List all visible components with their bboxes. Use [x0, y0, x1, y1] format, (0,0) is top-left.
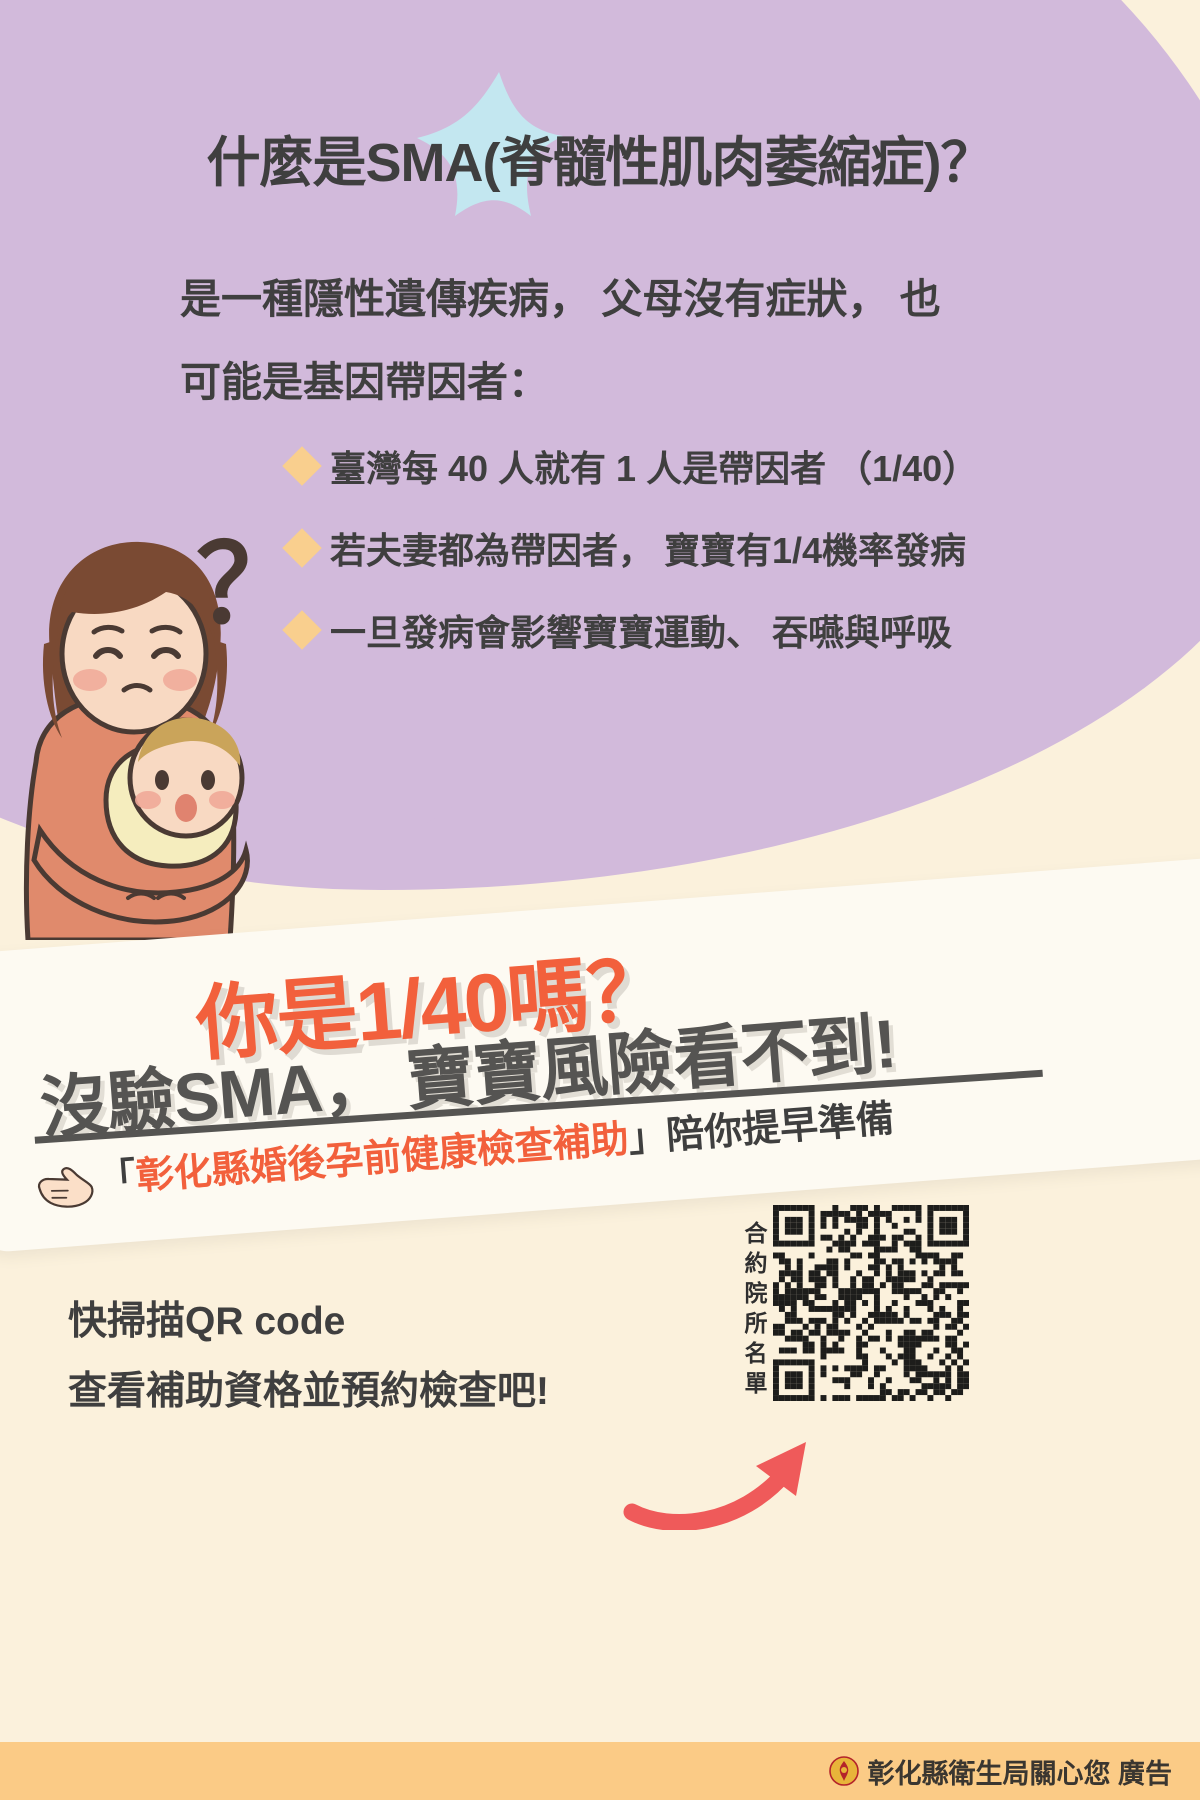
subsidy-prefix: 「: [97, 1156, 138, 1201]
fact-bullet-list: 臺灣每 40 人就有 1 人是帶因者 （1/40） 若夫妻都為帶因者， 寶寶有1…: [288, 425, 978, 671]
list-item: 臺灣每 40 人就有 1 人是帶因者 （1/40）: [288, 425, 978, 507]
health-bureau-logo-icon: [829, 1756, 859, 1786]
page-title: 什麼是SMA(脊髓性肌肉萎縮症)？: [0, 118, 1200, 197]
scan-instruction-line-1: 快掃描QR code: [68, 1290, 345, 1346]
pointing-hand-icon: [31, 1155, 97, 1216]
diamond-bullet-icon: [282, 446, 322, 486]
scan-instruction-line-2: 查看補助資格並預約檢查吧!: [68, 1360, 549, 1416]
bullet-label: 臺灣每 40 人就有 1 人是帶因者 （1/40）: [330, 440, 978, 492]
qr-code-block[interactable]: 合約院所名單: [742, 1205, 969, 1401]
poster-root: 什麼是SMA(脊髓性肌肉萎縮症)？ 是一種隱性遺傳疾病， 父母沒有症狀， 也 可…: [0, 0, 1200, 1800]
intro-line-1: 是一種隱性遺傳疾病， 父母沒有症狀， 也: [180, 265, 941, 325]
footer-text: 彰化縣衛生局關心您 廣告: [867, 1752, 1172, 1791]
qr-label: 合約院所名單: [742, 1221, 765, 1401]
list-item: 若夫妻都為帶因者， 寶寶有1/4機率發病: [288, 507, 978, 589]
footer-bar: 彰化縣衛生局關心您 廣告: [0, 1742, 1200, 1800]
bullet-label: 一旦發病會影響寶寶運動、 吞嚥與呼吸: [330, 604, 952, 656]
subsidy-suffix: 」陪你提早準備: [627, 1098, 895, 1160]
intro-line-2: 可能是基因帶因者：: [180, 348, 549, 408]
qr-code-icon[interactable]: [773, 1205, 969, 1401]
curved-arrow-icon: [620, 1400, 840, 1530]
question-mark-glyph: ？: [196, 498, 304, 654]
bullet-label: 若夫妻都為帶因者， 寶寶有1/4機率發病: [330, 522, 966, 574]
list-item: 一旦發病會影響寶寶運動、 吞嚥與呼吸: [288, 589, 978, 671]
